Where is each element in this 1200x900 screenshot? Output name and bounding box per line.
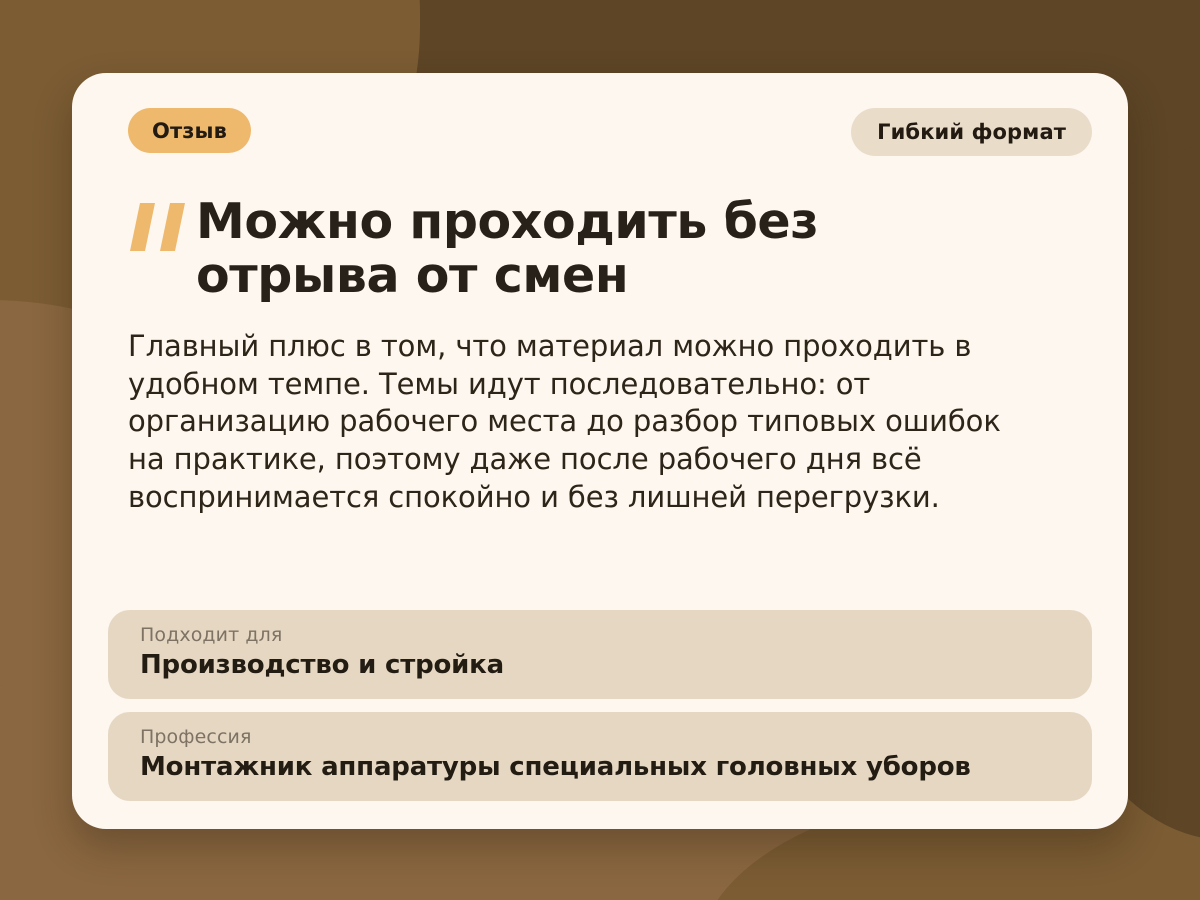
info-card-profession: Профессия Монтажник аппаратуры специальн… bbox=[108, 712, 1092, 801]
info-card-label: Подходит для bbox=[140, 624, 1060, 646]
badge-review[interactable]: Отзыв bbox=[128, 108, 251, 153]
headline-block: Можно проходить без отрыва от смен bbox=[128, 195, 1008, 304]
info-card-value: Производство и стройка bbox=[140, 650, 1060, 681]
quote-headline: Можно проходить без отрыва от смен bbox=[128, 195, 1008, 304]
info-card-label: Профессия bbox=[140, 726, 1060, 748]
quote-body: Главный плюс в том, что материал можно п… bbox=[128, 328, 1028, 516]
testimonial-slide: Отзыв Гибкий формат Можно проходить без … bbox=[0, 0, 1200, 900]
card-header: Отзыв Гибкий формат bbox=[72, 108, 1128, 160]
badge-format[interactable]: Гибкий формат bbox=[851, 108, 1092, 156]
testimonial-card: Отзыв Гибкий формат Можно проходить без … bbox=[72, 73, 1128, 829]
quote-mark-icon bbox=[128, 203, 190, 251]
info-card-suitable-for: Подходит для Производство и стройка bbox=[108, 610, 1092, 699]
info-card-value: Монтажник аппаратуры специальных головны… bbox=[140, 752, 1060, 783]
